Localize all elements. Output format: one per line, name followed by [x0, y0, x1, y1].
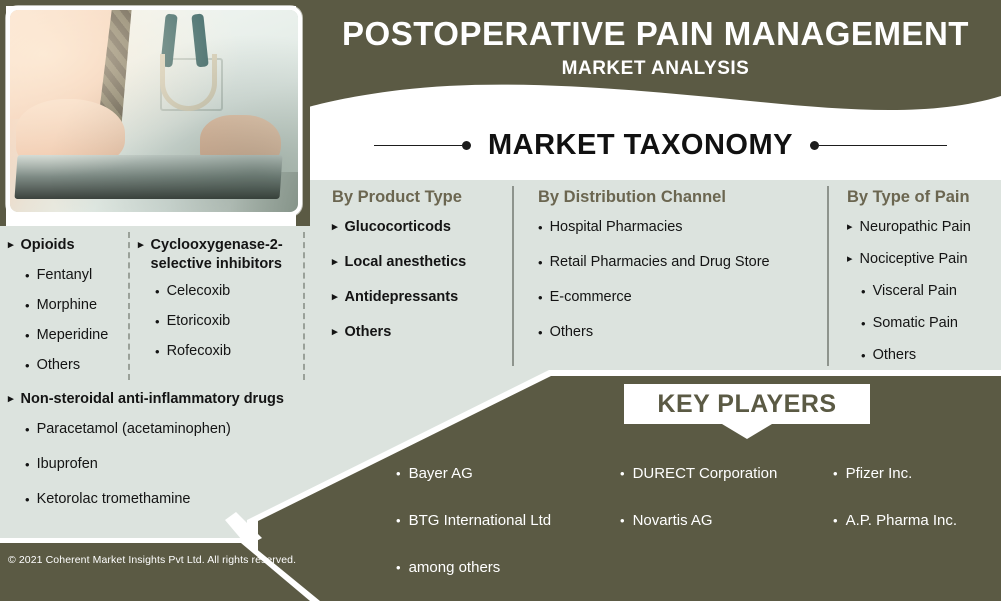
list-item: • Rofecoxib — [155, 342, 300, 361]
list-item-label: A.P. Pharma Inc. — [846, 511, 957, 531]
dot-bullet-icon: • — [538, 253, 543, 272]
list-item: • Fentanyl — [25, 266, 126, 285]
arrow-bullet-icon: ▸ — [847, 250, 853, 269]
group-nsaids: ▸ Non-steroidal anti-inflammatory drugs … — [8, 390, 368, 520]
arrow-bullet-icon: ▸ — [8, 390, 14, 409]
column-by-product-type: By Product Type ▸ Glucocorticods ▸ Local… — [332, 188, 502, 353]
dot-bullet-icon: • — [861, 314, 866, 333]
list-item: • Ketorolac tromethamine — [25, 490, 368, 509]
dot-bullet-icon: • — [155, 312, 160, 331]
list-item: • E-commerce — [538, 288, 828, 307]
list-item-label: Fentanyl — [37, 266, 93, 285]
doctor-with-tablet-photo — [6, 6, 302, 216]
list-item-label: Celecoxib — [167, 282, 231, 301]
list-item: • Etoricoxib — [155, 312, 300, 331]
market-taxonomy-heading: MARKET TAXONOMY — [320, 124, 1001, 166]
group-heading-label-line2: selective inhibitors — [151, 256, 282, 272]
dot-bullet-icon: • — [25, 356, 30, 375]
list-item-label: Glucocorticods — [345, 218, 451, 237]
dot-bullet-icon: • — [861, 346, 866, 365]
rule-left-icon — [374, 145, 462, 146]
list-item-label: Antidepressants — [345, 288, 459, 307]
list-item-label: Ketorolac tromethamine — [37, 490, 191, 509]
list-item: • Retail Pharmacies and Drug Store — [538, 253, 828, 272]
list-item-label: Somatic Pain — [873, 314, 958, 333]
key-players-column-3: • Pfizer Inc. • A.P. Pharma Inc. — [833, 464, 1001, 558]
dot-bullet-icon: • — [620, 511, 625, 531]
list-item: ▸ Others — [332, 323, 502, 342]
list-item-label: E-commerce — [550, 288, 632, 307]
dot-bullet-icon: • — [861, 282, 866, 301]
list-item-label: Novartis AG — [633, 511, 713, 531]
list-item: ▸ Neuropathic Pain — [847, 218, 1001, 237]
list-item: • Novartis AG — [620, 511, 830, 531]
list-item: • Morphine — [25, 296, 126, 315]
group-cox2-inhibitors: ▸ Cyclooxygenase-2- selective inhibitors… — [138, 236, 300, 372]
dot-bullet-icon: • — [25, 296, 30, 315]
list-item: • Others — [538, 323, 828, 342]
dot-bullet-icon: • — [155, 282, 160, 301]
rule-right-icon — [819, 145, 947, 146]
list-item-label: DURECT Corporation — [633, 464, 778, 484]
group-heading-label: Non-steroidal anti-inflammatory drugs — [21, 390, 284, 409]
list-item: • Celecoxib — [155, 282, 300, 301]
dot-bullet-icon: • — [396, 464, 401, 484]
copyright-footer: © 2021 Coherent Market Insights Pvt Ltd.… — [8, 554, 296, 566]
dot-bullet-icon: • — [538, 323, 543, 342]
dot-bullet-icon: • — [155, 342, 160, 361]
banner-notch-icon — [722, 424, 772, 439]
list-item: • Visceral Pain — [861, 282, 1001, 301]
list-item-label: Pfizer Inc. — [846, 464, 913, 484]
list-item: • Paracetamol (acetaminophen) — [25, 420, 368, 439]
list-item-label: Hospital Pharmacies — [550, 218, 683, 237]
key-players-banner: KEY PLAYERS — [624, 384, 870, 424]
dot-bullet-icon: • — [833, 511, 838, 531]
arrow-bullet-icon: ▸ — [138, 236, 144, 255]
key-players-title: KEY PLAYERS — [657, 390, 836, 419]
arrow-bullet-icon: ▸ — [847, 218, 853, 237]
dot-bullet-icon: • — [25, 455, 30, 474]
key-players-column-1: • Bayer AG • BTG International Ltd • amo… — [396, 464, 606, 601]
list-item: ▸ Glucocorticods — [332, 218, 502, 237]
list-item-label: Bayer AG — [409, 464, 473, 484]
arrow-bullet-icon: ▸ — [8, 236, 14, 255]
list-item: • among others — [396, 558, 606, 578]
arrow-bullet-icon: ▸ — [332, 253, 338, 272]
page-subtitle: MARKET ANALYSIS — [310, 56, 1001, 82]
group-opioids: ▸ Opioids • Fentanyl • Morphine • Meperi… — [8, 236, 126, 386]
key-players-column-2: • DURECT Corporation • Novartis AG — [620, 464, 830, 558]
list-item-label: Visceral Pain — [873, 282, 957, 301]
list-item-label: Paracetamol (acetaminophen) — [37, 420, 231, 439]
list-item-label: Meperidine — [37, 326, 109, 345]
list-item-label: Others — [550, 323, 594, 342]
section-title: MARKET TAXONOMY — [471, 129, 810, 162]
list-item: ▸ Nociceptive Pain — [847, 250, 1001, 269]
divider-product-distribution — [512, 186, 514, 366]
list-item: • Others — [25, 356, 126, 375]
dot-bullet-icon: • — [396, 511, 401, 531]
list-item: • A.P. Pharma Inc. — [833, 511, 1001, 531]
list-item: ▸ Local anesthetics — [332, 253, 502, 272]
list-item: • Others — [861, 346, 1001, 365]
list-item-label: Etoricoxib — [167, 312, 231, 331]
header-block: POSTOPERATIVE PAIN MANAGEMENT MARKET ANA… — [310, 14, 1001, 82]
list-item-label: Retail Pharmacies and Drug Store — [550, 253, 770, 272]
column-by-distribution-channel: By Distribution Channel • Hospital Pharm… — [538, 188, 828, 353]
list-item-label: among others — [409, 558, 501, 578]
dot-bullet-icon: • — [538, 218, 543, 237]
infographic-canvas: POSTOPERATIVE PAIN MANAGEMENT MARKET ANA… — [0, 0, 1001, 601]
list-item-label: BTG International Ltd — [409, 511, 552, 531]
list-item-label: Ibuprofen — [37, 455, 98, 474]
dot-bullet-icon: • — [25, 266, 30, 285]
dot-bullet-icon: • — [25, 490, 30, 509]
dot-bullet-icon: • — [620, 464, 625, 484]
list-item: • Pfizer Inc. — [833, 464, 1001, 484]
list-item-label: Morphine — [37, 296, 97, 315]
column-title: By Distribution Channel — [538, 188, 828, 207]
list-item: • Hospital Pharmacies — [538, 218, 828, 237]
dot-right-icon — [810, 141, 819, 150]
dot-bullet-icon: • — [833, 464, 838, 484]
dot-bullet-icon: • — [538, 288, 543, 307]
arrow-bullet-icon: ▸ — [332, 288, 338, 307]
group-heading: ▸ Non-steroidal anti-inflammatory drugs — [8, 390, 368, 409]
page-title: POSTOPERATIVE PAIN MANAGEMENT — [310, 14, 1001, 54]
list-item: • BTG International Ltd — [396, 511, 606, 531]
dot-bullet-icon: • — [25, 420, 30, 439]
list-item-label: Rofecoxib — [167, 342, 231, 361]
list-item: • Bayer AG — [396, 464, 606, 484]
list-item-label: Others — [37, 356, 81, 375]
column-title: By Product Type — [332, 188, 502, 207]
list-item-label: Neuropathic Pain — [860, 218, 971, 237]
dot-bullet-icon: • — [396, 558, 401, 578]
group-heading-label-line1: Cyclooxygenase-2- — [151, 237, 283, 253]
list-item: • Ibuprofen — [25, 455, 368, 474]
dot-bullet-icon: • — [25, 326, 30, 345]
list-item: • Somatic Pain — [861, 314, 1001, 333]
list-item-label: Others — [873, 346, 917, 365]
column-by-type-of-pain: By Type of Pain ▸ Neuropathic Pain ▸ Noc… — [847, 188, 1001, 376]
list-item-label: Others — [345, 323, 392, 342]
list-item-label: Local anesthetics — [345, 253, 467, 272]
arrow-bullet-icon: ▸ — [332, 323, 338, 342]
group-heading: ▸ Opioids — [8, 236, 126, 255]
divider-left-dashed — [128, 232, 130, 380]
dot-left-icon — [462, 141, 471, 150]
column-title: By Type of Pain — [847, 188, 1001, 207]
list-item-label: Nociceptive Pain — [860, 250, 968, 269]
divider-mid-dashed — [303, 232, 305, 380]
group-heading-label: Opioids — [21, 236, 75, 255]
group-heading: ▸ Cyclooxygenase-2- selective inhibitors — [138, 236, 300, 274]
arrow-bullet-icon: ▸ — [332, 218, 338, 237]
list-item: • Meperidine — [25, 326, 126, 345]
list-item: ▸ Antidepressants — [332, 288, 502, 307]
list-item: • DURECT Corporation — [620, 464, 830, 484]
